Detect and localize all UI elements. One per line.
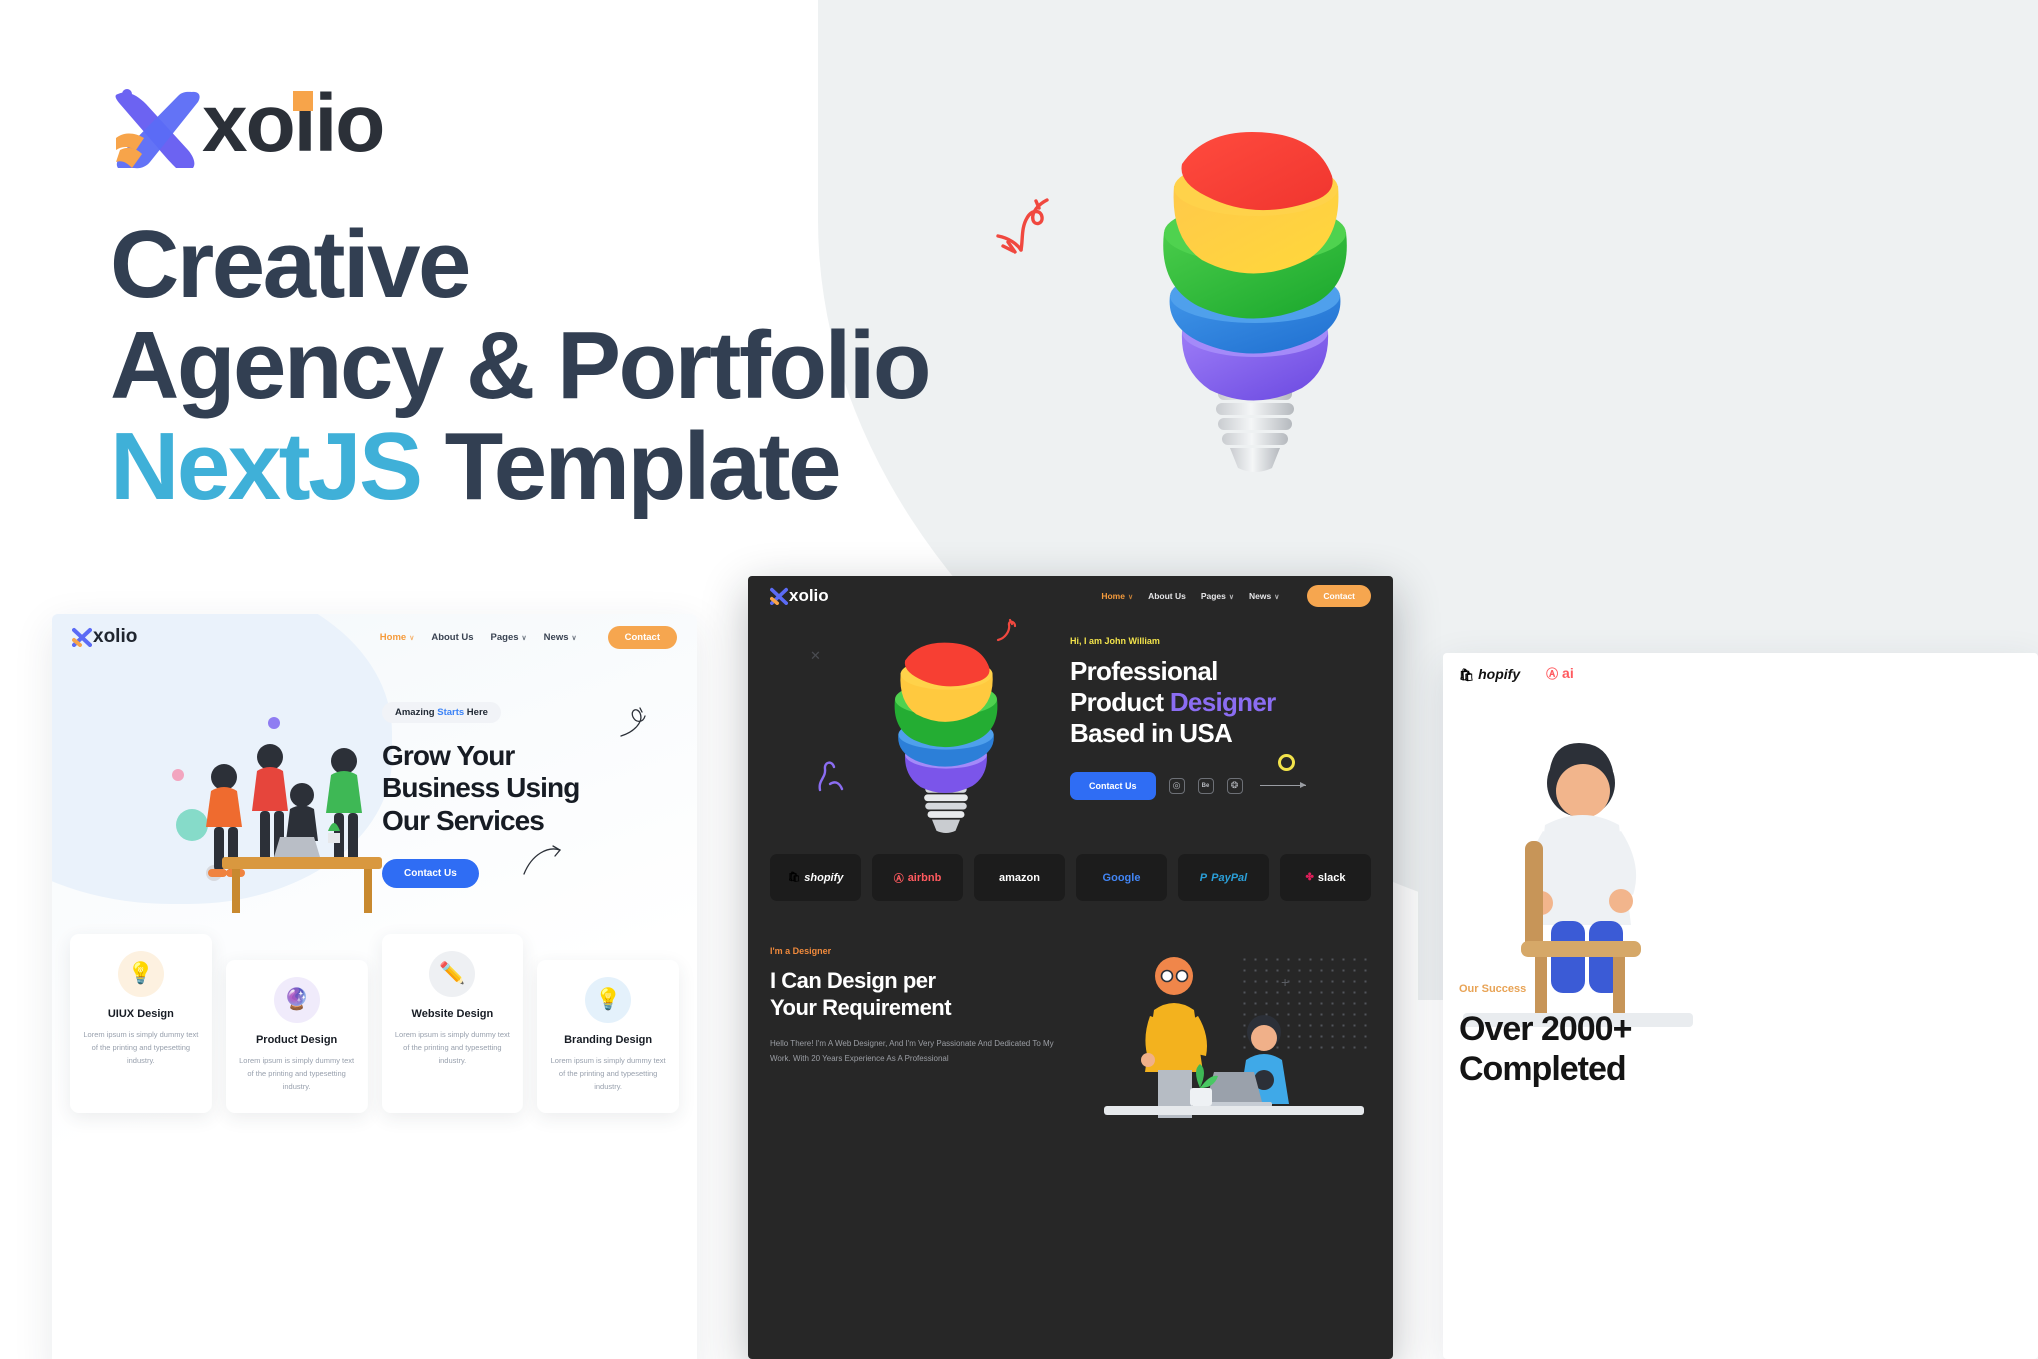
status-badge: Amazing Starts Here xyxy=(382,702,501,723)
service-card-desc: Lorem ipsum is simply dummy text of the … xyxy=(80,1028,202,1067)
arrow-right-icon xyxy=(1260,785,1306,786)
pencil-icon: ✏️ xyxy=(429,951,475,997)
nav-item-news[interactable]: News∨ xyxy=(544,632,577,643)
service-card-desc: Lorem ipsum is simply dummy text of the … xyxy=(392,1028,514,1067)
brand-logo-item[interactable]: Ⓐ airbnb xyxy=(872,854,963,901)
airbnb-icon: Ⓐ xyxy=(1546,667,1558,681)
dark-preview-logo[interactable]: xolio xyxy=(770,586,829,606)
contact-button[interactable]: Contact xyxy=(1307,585,1371,607)
light-preview-logo[interactable]: xolio xyxy=(72,626,137,648)
dark-preview-lower-section: I'm a Designer I Can Design per Your Req… xyxy=(770,946,1070,1066)
contact-us-button[interactable]: Contact Us xyxy=(1070,772,1156,800)
light-template-preview[interactable]: xolio Home∨ About Us Pages∨ News∨ Contac… xyxy=(52,614,697,1359)
service-card[interactable]: 💡 Branding Design Lorem ipsum is simply … xyxy=(537,960,679,1113)
service-card-title: Product Design xyxy=(236,1034,358,1046)
3d-lightbulb-icon xyxy=(876,632,1016,847)
service-card-desc: Lorem ipsum is simply dummy text of the … xyxy=(236,1054,358,1093)
paypal-icon: P xyxy=(1200,872,1207,884)
dark-template-preview[interactable]: xolio Home∨ About Us Pages∨ News∨ Contac… xyxy=(748,576,1393,1359)
two-people-laptop-illustration xyxy=(1078,948,1378,1148)
airbnb-icon: Ⓐ xyxy=(894,870,904,885)
nav-item-about-us[interactable]: About Us xyxy=(1148,591,1186,601)
section-kicker: Our Success xyxy=(1459,983,1789,995)
nav-item-home[interactable]: Home∨ xyxy=(380,632,415,643)
dark-preview-navbar: xolio Home∨ About Us Pages∨ News∨ Contac… xyxy=(748,576,1393,616)
headline-line-1: Creative xyxy=(110,215,929,316)
service-card-title: Website Design xyxy=(392,1008,514,1020)
amazon-icon: amazon xyxy=(999,872,1040,884)
nav-item-news[interactable]: News∨ xyxy=(1249,591,1279,601)
x-brush-icon xyxy=(110,78,206,170)
nav-item-about-us[interactable]: About Us xyxy=(431,632,473,643)
brand-logo-item[interactable]: 🛍 shopify xyxy=(770,854,861,901)
shopify-icon: 🛍 xyxy=(1459,668,1474,682)
brand-logo-item[interactable]: Google xyxy=(1076,854,1167,901)
section-title: I Can Design per Your Requirement xyxy=(770,967,1070,1022)
hero-cta-row: Contact Us ◎ Be ❂ xyxy=(1070,772,1370,800)
headline-line-3: NextJS Template xyxy=(110,417,929,518)
brand-logo-item[interactable]: P PayPal xyxy=(1178,854,1269,901)
instagram-icon[interactable]: ◎ xyxy=(1169,778,1185,794)
light-preview-title: Grow Your Business Using Our Services xyxy=(382,740,672,837)
lightbulb-icon: 💡 xyxy=(118,951,164,997)
nav-item-pages[interactable]: Pages∨ xyxy=(1201,591,1234,601)
dark-preview-hero: Hi, I am John William Professional Produ… xyxy=(1070,636,1370,800)
service-card-title: UIUX Design xyxy=(80,1008,202,1020)
light-preview-navbar: xolio Home∨ About Us Pages∨ News∨ Contac… xyxy=(52,614,697,660)
chevron-down-icon: ∨ xyxy=(1128,594,1133,601)
service-card[interactable]: ✏️ Website Design Lorem ipsum is simply … xyxy=(382,934,524,1113)
service-card[interactable]: 💡 UIUX Design Lorem ipsum is simply dumm… xyxy=(70,934,212,1113)
behance-icon[interactable]: Be xyxy=(1198,778,1214,794)
slack-icon: ✤ xyxy=(1306,872,1314,883)
chevron-down-icon: ∨ xyxy=(522,635,527,642)
brand-logo-item[interactable]: 🛍 hopify xyxy=(1459,666,1520,682)
red-squiggle-arrow-icon xyxy=(995,190,1065,265)
section-body: Hello There! I'm A Web Designer, And I'm… xyxy=(770,1036,1070,1066)
x-brush-icon xyxy=(770,587,788,605)
nav-item-pages[interactable]: Pages∨ xyxy=(491,632,527,643)
right-preview-lower-section: Our Success Over 2000+ Completed xyxy=(1459,983,1789,1089)
chevron-down-icon: ∨ xyxy=(409,635,414,642)
contact-us-button[interactable]: Contact Us xyxy=(382,859,479,888)
brand-logo-list: 🛍 shopify Ⓐ airbnb amazon Google P PayPa… xyxy=(748,854,1393,901)
brand-logo[interactable]: xolio xyxy=(110,78,383,170)
headline-rest: Template xyxy=(421,413,840,520)
right-preview-brand-row: 🛍 hopify Ⓐ ai xyxy=(1459,665,1574,682)
light-preview-nav-items: Home∨ About Us Pages∨ News∨ Contact xyxy=(380,626,677,649)
google-icon: Google xyxy=(1103,872,1141,884)
page-title: Creative Agency & Portfolio NextJS Templ… xyxy=(110,215,929,517)
team-at-desk-illustration xyxy=(162,699,402,939)
yellow-ring-icon xyxy=(1278,754,1295,771)
service-card-title: Branding Design xyxy=(547,1034,669,1046)
shopify-icon: 🛍 xyxy=(788,872,801,883)
purple-squiggle-icon xyxy=(816,758,846,799)
brand-logo-item[interactable]: amazon xyxy=(974,854,1065,901)
hero-kicker: Hi, I am John William xyxy=(1070,636,1370,646)
section-kicker: I'm a Designer xyxy=(770,946,1070,956)
service-card-desc: Lorem ipsum is simply dummy text of the … xyxy=(547,1054,669,1093)
dribbble-icon[interactable]: ❂ xyxy=(1227,778,1243,794)
brand-logo-text: xolio xyxy=(202,83,383,165)
dark-preview-nav-items: Home∨ About Us Pages∨ News∨ Contact xyxy=(1101,585,1371,607)
chevron-down-icon: ∨ xyxy=(1229,594,1234,601)
brand-logo-item[interactable]: ✤ slack xyxy=(1280,854,1371,901)
idea-bulb-icon: 💡 xyxy=(585,977,631,1023)
virus-ball-icon: 🔮 xyxy=(274,977,320,1023)
swirl-doodle-icon xyxy=(618,706,648,745)
dark-preview-title: Professional Product Designer Based in U… xyxy=(1070,656,1370,750)
nav-item-home[interactable]: Home∨ xyxy=(1101,591,1133,601)
light-preview-logo-text: xolio xyxy=(93,626,137,648)
chevron-down-icon: ∨ xyxy=(572,635,577,642)
logo-i-dot-icon xyxy=(293,91,313,111)
section-title: Over 2000+ Completed xyxy=(1459,1009,1789,1089)
chevron-down-icon: ∨ xyxy=(1274,594,1279,601)
curved-arrow-icon xyxy=(522,844,564,883)
service-card-list: 💡 UIUX Design Lorem ipsum is simply dumm… xyxy=(52,934,697,1113)
third-template-preview[interactable]: 🛍 hopify Ⓐ ai xyxy=(1443,653,2038,1359)
headline-accent: NextJS xyxy=(110,413,421,520)
brand-logo-item[interactable]: Ⓐ ai xyxy=(1546,665,1574,682)
service-card[interactable]: 🔮 Product Design Lorem ipsum is simply d… xyxy=(226,960,368,1113)
cross-doodle-icon: ✕ xyxy=(810,648,821,664)
dark-preview-logo-text: xolio xyxy=(789,586,829,606)
x-brush-icon xyxy=(72,627,92,647)
3d-lightbulb-icon xyxy=(1130,120,1380,490)
headline-line-2: Agency & Portfolio xyxy=(110,316,929,417)
contact-button[interactable]: Contact xyxy=(608,626,677,649)
